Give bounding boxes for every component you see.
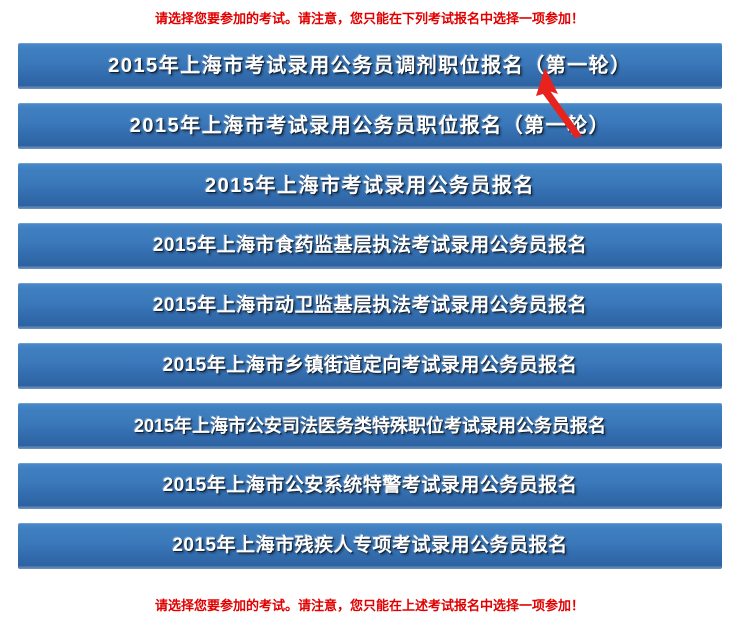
exam-button-shiyaojian-grassroots[interactable]: 2015年上海市食药监基层执法考试录用公务员报名: [18, 223, 722, 269]
exam-button-label: 2015年上海市公安司法医务类特殊职位考试录用公务员报名: [18, 403, 722, 449]
exam-button-disabled-special[interactable]: 2015年上海市残疾人专项考试录用公务员报名: [18, 523, 722, 569]
exam-button-township-street-directed[interactable]: 2015年上海市乡镇街道定向考试录用公务员报名: [18, 343, 722, 389]
exam-button-police-swat[interactable]: 2015年上海市公安系统特警考试录用公务员报名: [18, 463, 722, 509]
exam-button-label: 2015年上海市考试录用公务员调剂职位报名（第一轮）: [18, 43, 722, 89]
exam-button-label: 2015年上海市公安系统特警考试录用公务员报名: [18, 463, 722, 509]
exam-button-dongweijian-grassroots[interactable]: 2015年上海市动卫监基层执法考试录用公务员报名: [18, 283, 722, 329]
exam-selection-page: 请选择您要参加的考试。请注意，您只能在下列考试报名中选择一项参加！ 2015年上…: [0, 0, 739, 623]
exam-button-label: 2015年上海市考试录用公务员职位报名（第一轮）: [18, 103, 722, 149]
exam-button-general-registration[interactable]: 2015年上海市考试录用公务员报名: [18, 163, 722, 209]
exam-button-position-round1[interactable]: 2015年上海市考试录用公务员职位报名（第一轮）: [18, 103, 722, 149]
exam-button-tiaoji-position[interactable]: 2015年上海市考试录用公务员调剂职位报名（第一轮）: [18, 43, 722, 89]
bottom-instruction-notice: 请选择您要参加的考试。请注意，您只能在上述考试报名中选择一项参加！: [0, 599, 739, 615]
exam-button-label: 2015年上海市乡镇街道定向考试录用公务员报名: [18, 343, 722, 389]
top-instruction-notice: 请选择您要参加的考试。请注意，您只能在下列考试报名中选择一项参加！: [0, 12, 739, 28]
exam-button-label: 2015年上海市食药监基层执法考试录用公务员报名: [18, 223, 722, 269]
exam-button-label: 2015年上海市动卫监基层执法考试录用公务员报名: [18, 283, 722, 329]
exam-registration-list: 2015年上海市考试录用公务员调剂职位报名（第一轮） 2015年上海市考试录用公…: [18, 43, 722, 583]
exam-button-label: 2015年上海市考试录用公务员报名: [18, 163, 722, 209]
exam-button-label: 2015年上海市残疾人专项考试录用公务员报名: [18, 523, 722, 569]
exam-button-public-security-judicial-medical[interactable]: 2015年上海市公安司法医务类特殊职位考试录用公务员报名: [18, 403, 722, 449]
